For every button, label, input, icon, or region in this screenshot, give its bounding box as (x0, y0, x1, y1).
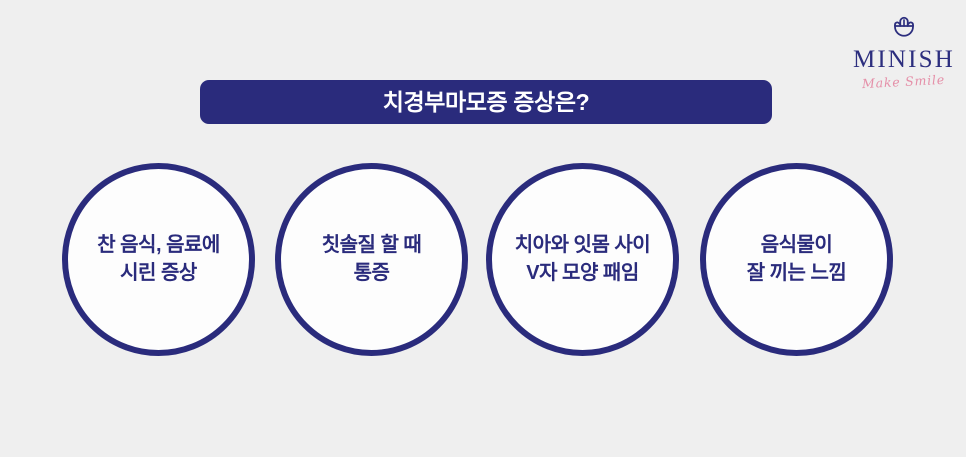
page-title: 치경부마모증 증상은? (383, 91, 589, 114)
brand-logo: MINISH Make Smile (842, 14, 966, 100)
symptom-line-1: 치아와 잇몸 사이 (515, 232, 650, 260)
symptom-circle-3: 치아와 잇몸 사이 V자 모양 패임 (486, 163, 679, 356)
symptom-circle-4: 음식물이 잘 끼는 느낌 (700, 163, 893, 356)
symptom-line-2: V자 모양 패임 (526, 260, 638, 288)
symptom-line-1: 찬 음식, 음료에 (97, 232, 220, 260)
symptom-circle-row: 찬 음식, 음료에 시린 증상 칫솔질 할 때 통증 치아와 잇몸 사이 V자 … (0, 163, 966, 357)
slide-canvas: MINISH Make Smile 치경부마모증 증상은? 찬 음식, 음료에 … (0, 0, 966, 457)
symptom-line-2: 시린 증상 (120, 260, 197, 288)
title-banner: 치경부마모증 증상은? (200, 80, 772, 124)
symptom-circle-1: 찬 음식, 음료에 시린 증상 (62, 163, 255, 356)
symptom-line-1: 칫솔질 할 때 (322, 232, 422, 260)
logo-wordmark: MINISH (853, 47, 955, 72)
symptom-line-2: 잘 끼는 느낌 (747, 260, 847, 288)
symptom-line-1: 음식물이 (761, 232, 833, 260)
logo-tagline: Make Smile (862, 74, 946, 91)
symptom-line-2: 통증 (354, 260, 390, 288)
tulip-icon (889, 14, 919, 44)
symptom-circle-2: 칫솔질 할 때 통증 (275, 163, 468, 356)
